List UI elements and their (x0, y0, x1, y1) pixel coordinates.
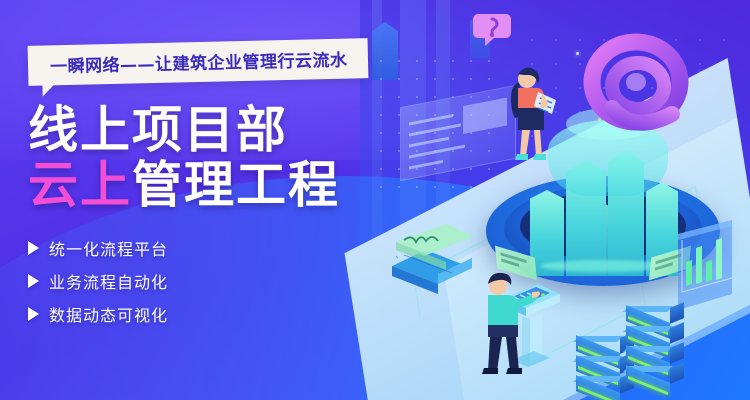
headline-accent-text: 云上 (28, 156, 132, 214)
platform-glow-band (540, 260, 668, 272)
list-item: 业务流程自动化 (28, 269, 448, 293)
bullet-label: 数据动态可视化 (49, 302, 168, 326)
feature-bullet-list: 统一化流程平台 业务流程自动化 数据动态可视化 (28, 236, 448, 326)
bullet-label: 统一化流程平台 (49, 236, 168, 260)
speech-bubble-icon (472, 10, 512, 46)
man-at-console-figure (470, 268, 540, 378)
triangle-right-icon (28, 274, 39, 288)
headline-block: 一瞬网络——让建筑企业管理行云流水 线上项目部 云上管理工程 统一化流程平台 业… (28, 42, 448, 335)
e-spiral-logo-icon (576, 30, 696, 140)
promo-banner: 一瞬网络——让建筑企业管理行云流水 线上项目部 云上管理工程 统一化流程平台 业… (0, 0, 750, 400)
headline-line-2: 云上管理工程 (28, 159, 448, 212)
woman-with-tablet-figure (498, 62, 558, 172)
triangle-right-icon (28, 307, 39, 321)
server-unit (576, 380, 632, 400)
headline-line-1: 线上项目部 (28, 104, 448, 157)
tagline-speech-bubble: 一瞬网络——让建筑企业管理行云流水 (28, 38, 368, 86)
list-item: 数据动态可视化 (28, 302, 448, 326)
list-item: 统一化流程平台 (28, 236, 448, 260)
headline-rest-text: 管理工程 (132, 156, 340, 214)
bullet-label: 业务流程自动化 (49, 269, 168, 293)
server-unit (626, 370, 682, 392)
server-racks (576, 282, 696, 394)
triangle-right-icon (28, 241, 39, 255)
